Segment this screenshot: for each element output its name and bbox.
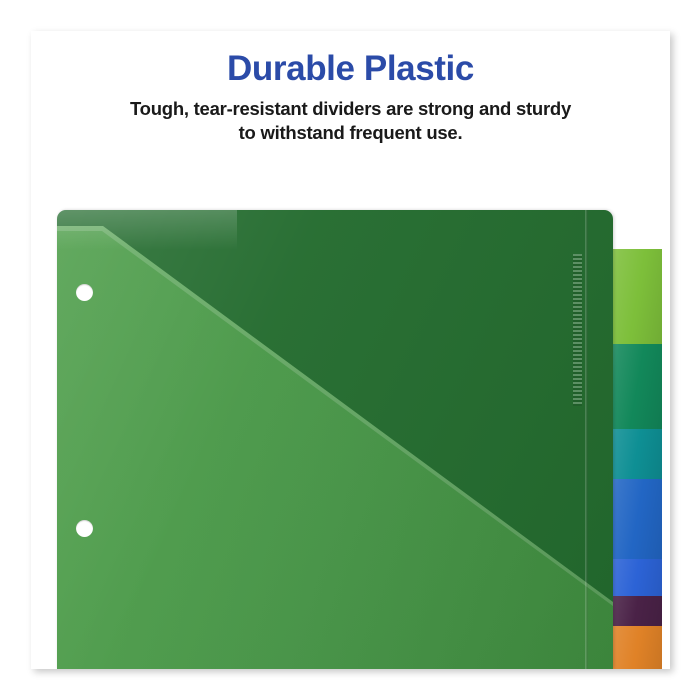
- corner-highlight: [57, 210, 237, 250]
- hole-punch: [76, 520, 93, 537]
- page-subtitle: Tough, tear-resistant dividers are stron…: [51, 97, 650, 146]
- reinforced-edge-strip: [573, 254, 582, 406]
- product-photo: [31, 170, 670, 669]
- product-image-stage: Durable Plastic Tough, tear-resistant di…: [0, 0, 700, 700]
- product-card: Durable Plastic Tough, tear-resistant di…: [31, 31, 670, 669]
- page-title: Durable Plastic: [31, 51, 670, 88]
- hole-punch: [76, 284, 93, 301]
- subtitle-line-1: Tough, tear-resistant dividers are stron…: [130, 98, 571, 119]
- spine-crease-line: [585, 210, 588, 669]
- diagonal-pocket-panel: [57, 210, 613, 669]
- green-pocket-divider: [57, 210, 613, 669]
- subtitle-line-2: to withstand frequent use.: [239, 122, 463, 143]
